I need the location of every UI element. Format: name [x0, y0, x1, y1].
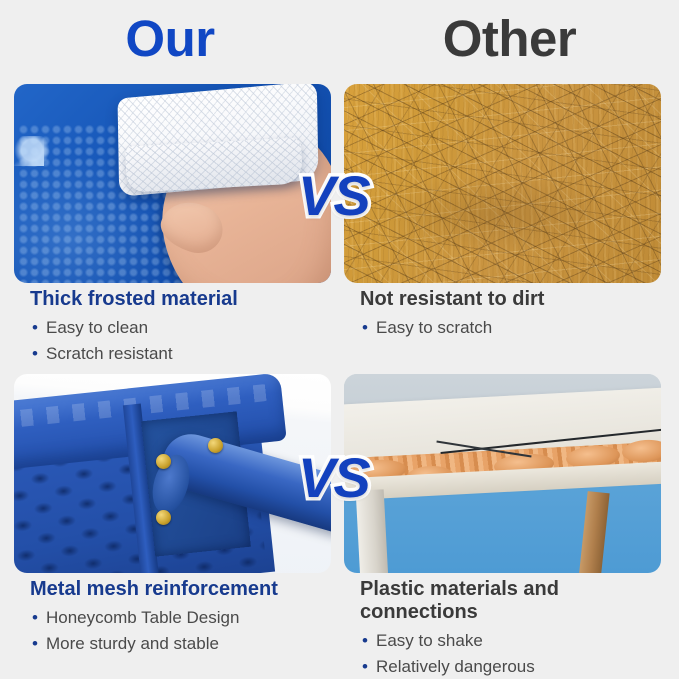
cell-bottom-left	[14, 374, 331, 573]
comparison-headers: Our Other	[0, 0, 679, 78]
broken-plastic-table-edge-photo	[344, 374, 661, 573]
caption-title: Plastic materials and connections	[360, 578, 679, 624]
caption-top-right: Not resistant to dirt Easy to scratch	[360, 288, 679, 341]
wooden-table-leg-shape	[578, 491, 609, 573]
list-item: More sturdy and stable	[30, 631, 338, 657]
list-item: Easy to scratch	[360, 315, 679, 341]
scuff-stain-shape	[374, 174, 614, 254]
blue-honeycomb-table-underside-photo	[14, 374, 331, 573]
cell-bottom-right	[344, 374, 661, 573]
list-item: Easy to clean	[30, 315, 350, 341]
caption-bottom-right: Plastic materials and connections Easy t…	[360, 578, 679, 679]
cell-top-left	[14, 84, 331, 283]
brass-screw-icon	[156, 510, 171, 525]
caption-bullet-list: Easy to scratch	[360, 315, 679, 341]
vs-badge-bottom: VS	[298, 450, 369, 506]
caption-bullet-list: Easy to clean Scratch resistant	[30, 315, 350, 367]
caption-bullet-list: Honeycomb Table Design More sturdy and s…	[30, 605, 338, 657]
cell-top-right	[344, 84, 661, 283]
caption-bullet-list: Easy to shake Relatively dangerous	[360, 628, 679, 679]
caption-title: Not resistant to dirt	[360, 288, 679, 311]
cloth-fold-shape	[125, 137, 303, 192]
blue-frosted-surface-being-wiped-photo	[14, 84, 331, 283]
list-item: Scratch resistant	[30, 341, 350, 367]
list-item: Easy to shake	[360, 628, 679, 654]
caption-top-left: Thick frosted material Easy to clean Scr…	[30, 288, 350, 367]
caption-title: Thick frosted material	[30, 288, 350, 311]
brass-screw-icon	[156, 454, 171, 469]
header-our: Our	[0, 8, 340, 70]
caption-bottom-left: Metal mesh reinforcement Honeycomb Table…	[18, 578, 338, 657]
list-item: Relatively dangerous	[360, 654, 679, 679]
caption-title: Metal mesh reinforcement	[30, 578, 338, 601]
brass-screw-icon	[208, 438, 223, 453]
vs-badge-top: VS	[298, 168, 369, 224]
list-item: Honeycomb Table Design	[30, 605, 338, 631]
scratched-wooden-board-photo	[344, 84, 661, 283]
header-other: Other	[340, 8, 679, 70]
